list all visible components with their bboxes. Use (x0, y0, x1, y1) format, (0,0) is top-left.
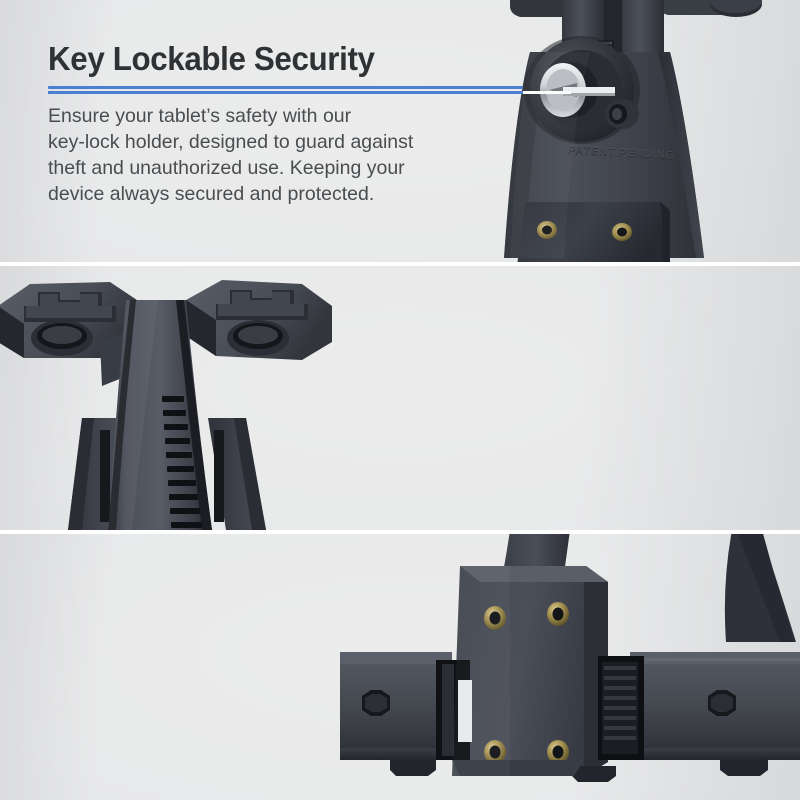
accent-rule-1 (48, 86, 523, 89)
body-key-lockable-security: Ensure your tablet’s safety with our key… (48, 104, 468, 208)
accent-rule-1-extension (48, 91, 523, 94)
body-line: key-lock holder, designed to guard again… (48, 130, 468, 156)
leader-line-1 (523, 91, 571, 94)
product-image-adjustable-holder (0, 266, 370, 530)
body-line: theft and unauthorized use. Keeping your (48, 156, 468, 182)
panel-divider-2 (0, 530, 800, 534)
panel-divider-1 (0, 262, 800, 266)
product-image-amps-plate (340, 534, 800, 800)
infographic-sheet: PATENT PENDING PATENT PENDING Key Lockab… (0, 0, 800, 800)
panel-fully-adjustable-holder: Fully Adjustable Holder Our adjustable h… (0, 266, 800, 530)
heading-key-lockable-security: Key Lockable Security (48, 42, 447, 77)
body-line: device always secured and protected. (48, 182, 468, 208)
body-line: Ensure your tablet’s safety with our (48, 104, 468, 130)
panel-amps-compatible: AMPS Compatible Easily attach a range of… (0, 534, 800, 800)
product-image-key-lock: PATENT PENDING PATENT PENDING (470, 0, 800, 262)
panel-key-lockable-security: PATENT PENDING PATENT PENDING Key Lockab… (0, 0, 800, 262)
text-block-key-lockable-security: Key Lockable Security Ensure your tablet… (48, 42, 468, 208)
